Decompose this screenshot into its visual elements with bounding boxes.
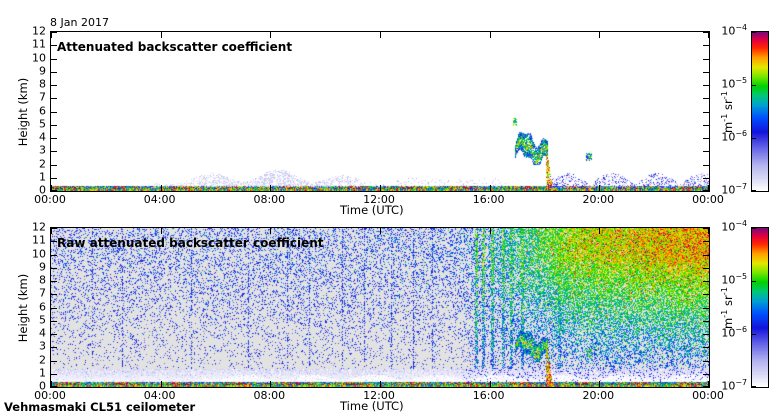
y-tick bbox=[51, 125, 57, 126]
y-tick bbox=[51, 361, 57, 362]
y-tick-label: 6 bbox=[24, 104, 46, 117]
y-tick-label: 7 bbox=[24, 91, 46, 104]
x-tick bbox=[599, 185, 600, 191]
colorbar-unit-sr-exp-b: -1 bbox=[719, 287, 729, 295]
x-tick-label: 04:00 bbox=[144, 389, 176, 402]
x-tick bbox=[490, 185, 491, 191]
x-tick bbox=[599, 228, 600, 234]
y-tick-label: 10 bbox=[24, 247, 46, 260]
panel-attenuated-backscatter[interactable] bbox=[50, 31, 710, 192]
y-tick bbox=[51, 72, 57, 73]
colorbar-tick-label: 10−6 bbox=[715, 131, 747, 144]
colorbar-tick-label: 10−5 bbox=[715, 274, 747, 287]
x-tick bbox=[490, 228, 491, 234]
y-tick bbox=[51, 45, 57, 46]
y-tick-label: 4 bbox=[24, 131, 46, 144]
x-tick bbox=[380, 381, 381, 387]
y-tick-label: 11 bbox=[24, 234, 46, 247]
x-tick bbox=[380, 185, 381, 191]
y-tick-label: 3 bbox=[24, 144, 46, 157]
y-tick bbox=[703, 321, 709, 322]
y-tick-label: 2 bbox=[24, 353, 46, 366]
x-tick bbox=[490, 381, 491, 387]
x-tick bbox=[708, 228, 709, 234]
x-tick bbox=[51, 381, 52, 387]
y-tick bbox=[51, 98, 57, 99]
y-tick bbox=[703, 281, 709, 282]
x-tick bbox=[270, 228, 271, 234]
y-tick bbox=[703, 294, 709, 295]
colorbar-tick bbox=[752, 32, 756, 33]
y-tick-label: 1 bbox=[24, 366, 46, 379]
x-tick bbox=[270, 381, 271, 387]
y-tick-label: 4 bbox=[24, 327, 46, 340]
x-tick bbox=[161, 185, 162, 191]
x-tick bbox=[708, 185, 709, 191]
x-tick bbox=[380, 32, 381, 38]
y-tick bbox=[51, 321, 57, 322]
y-tick-label: 9 bbox=[24, 260, 46, 273]
x-tick bbox=[708, 32, 709, 38]
x-tick-label: 12:00 bbox=[363, 389, 395, 402]
y-tick-label: 8 bbox=[24, 78, 46, 91]
colorbar-unit-m-exp-b: -1 bbox=[719, 310, 729, 318]
y-tick-label: 5 bbox=[24, 117, 46, 130]
y-tick bbox=[703, 45, 709, 46]
date-label: 8 Jan 2017 bbox=[50, 16, 109, 29]
y-tick bbox=[51, 268, 57, 269]
x-tick bbox=[270, 32, 271, 38]
y-tick bbox=[703, 361, 709, 362]
y-tick bbox=[703, 72, 709, 73]
y-tick bbox=[51, 241, 57, 242]
y-tick bbox=[703, 151, 709, 152]
x-tick-label: 04:00 bbox=[144, 193, 176, 206]
y-tick-label: 1 bbox=[24, 170, 46, 183]
y-tick-label: 5 bbox=[24, 313, 46, 326]
y-tick bbox=[703, 374, 709, 375]
y-tick bbox=[51, 347, 57, 348]
figure-caption: Vehmasmaki CL51 ceilometer bbox=[4, 400, 195, 414]
y-tick-label: 6 bbox=[24, 300, 46, 313]
colorbar-tick-label: 10−4 bbox=[715, 25, 747, 38]
colorbar-unit-m-exp: -1 bbox=[719, 114, 729, 122]
colorbar-tick bbox=[752, 281, 756, 282]
y-tick-label: 2 bbox=[24, 157, 46, 170]
y-tick bbox=[51, 255, 57, 256]
colorbar-gradient bbox=[752, 228, 768, 387]
x-tick bbox=[51, 228, 52, 234]
x-tick-label: 12:00 bbox=[363, 193, 395, 206]
x-tick-label: 20:00 bbox=[582, 389, 614, 402]
y-tick-label: 11 bbox=[24, 38, 46, 51]
x-tick bbox=[599, 32, 600, 38]
y-tick bbox=[51, 85, 57, 86]
colorbar-unit-sr-b: sr bbox=[721, 295, 735, 309]
y-tick-label: 12 bbox=[24, 25, 46, 38]
x-tick bbox=[161, 228, 162, 234]
y-tick bbox=[51, 165, 57, 166]
y-tick bbox=[51, 374, 57, 375]
x-tick bbox=[599, 381, 600, 387]
y-tick bbox=[703, 125, 709, 126]
y-tick-label: 10 bbox=[24, 51, 46, 64]
y-tick bbox=[703, 255, 709, 256]
y-tick bbox=[703, 59, 709, 60]
colorbar-tick bbox=[752, 228, 756, 229]
y-tick-label: 12 bbox=[24, 221, 46, 234]
y-tick-label: 9 bbox=[24, 64, 46, 77]
x-tick bbox=[270, 185, 271, 191]
y-tick bbox=[703, 268, 709, 269]
x-tick-label: 16:00 bbox=[473, 389, 505, 402]
y-tick bbox=[703, 85, 709, 86]
y-tick bbox=[703, 178, 709, 179]
y-tick-label: 8 bbox=[24, 274, 46, 287]
y-tick bbox=[703, 241, 709, 242]
y-tick bbox=[51, 308, 57, 309]
x-tick bbox=[161, 381, 162, 387]
y-tick-label: 7 bbox=[24, 287, 46, 300]
colorbar-top bbox=[751, 31, 769, 192]
x-tick-label: 20:00 bbox=[582, 193, 614, 206]
colorbar-tick-label: 10−6 bbox=[715, 327, 747, 340]
colorbar-tick-label: 10−7 bbox=[715, 380, 747, 393]
x-tick-label: 08:00 bbox=[253, 389, 285, 402]
colorbar-unit-sr: sr bbox=[721, 99, 735, 113]
x-tick bbox=[51, 185, 52, 191]
y-tick bbox=[703, 138, 709, 139]
colorbar-tick bbox=[752, 190, 756, 191]
colorbar-tick bbox=[752, 85, 756, 86]
x-tick bbox=[161, 32, 162, 38]
y-tick bbox=[51, 112, 57, 113]
x-tick bbox=[490, 32, 491, 38]
x-tick bbox=[380, 228, 381, 234]
y-tick bbox=[703, 334, 709, 335]
y-tick bbox=[51, 59, 57, 60]
colorbar-bottom bbox=[751, 227, 769, 388]
y-tick bbox=[51, 294, 57, 295]
colorbar-tick-label: 10−5 bbox=[715, 78, 747, 91]
y-tick bbox=[51, 281, 57, 282]
x-tick bbox=[51, 32, 52, 38]
ceilometer-figure: 8 Jan 2017 Attenuated backscatter coeffi… bbox=[0, 0, 780, 420]
y-tick bbox=[51, 178, 57, 179]
x-tick-label: 16:00 bbox=[473, 193, 505, 206]
x-tick-label: 08:00 bbox=[253, 193, 285, 206]
colorbar-tick-label: 10−4 bbox=[715, 221, 747, 234]
x-tick-label: 00:00 bbox=[34, 389, 66, 402]
colorbar-tick bbox=[752, 334, 756, 335]
colorbar-tick bbox=[752, 386, 756, 387]
y-tick bbox=[51, 334, 57, 335]
colorbar-tick-label: 10−7 bbox=[715, 184, 747, 197]
colorbar-unit-sr-exp: -1 bbox=[719, 91, 729, 99]
colorbar-gradient bbox=[752, 32, 768, 191]
x-tick bbox=[708, 381, 709, 387]
y-tick-label: 3 bbox=[24, 340, 46, 353]
colorbar-tick bbox=[752, 138, 756, 139]
y-tick bbox=[51, 138, 57, 139]
y-tick bbox=[703, 165, 709, 166]
y-tick bbox=[703, 308, 709, 309]
panel-raw-attenuated-backscatter[interactable] bbox=[50, 227, 710, 388]
y-tick bbox=[703, 347, 709, 348]
y-tick bbox=[51, 151, 57, 152]
y-tick bbox=[703, 98, 709, 99]
x-tick-label: 00:00 bbox=[34, 193, 66, 206]
y-tick bbox=[703, 112, 709, 113]
